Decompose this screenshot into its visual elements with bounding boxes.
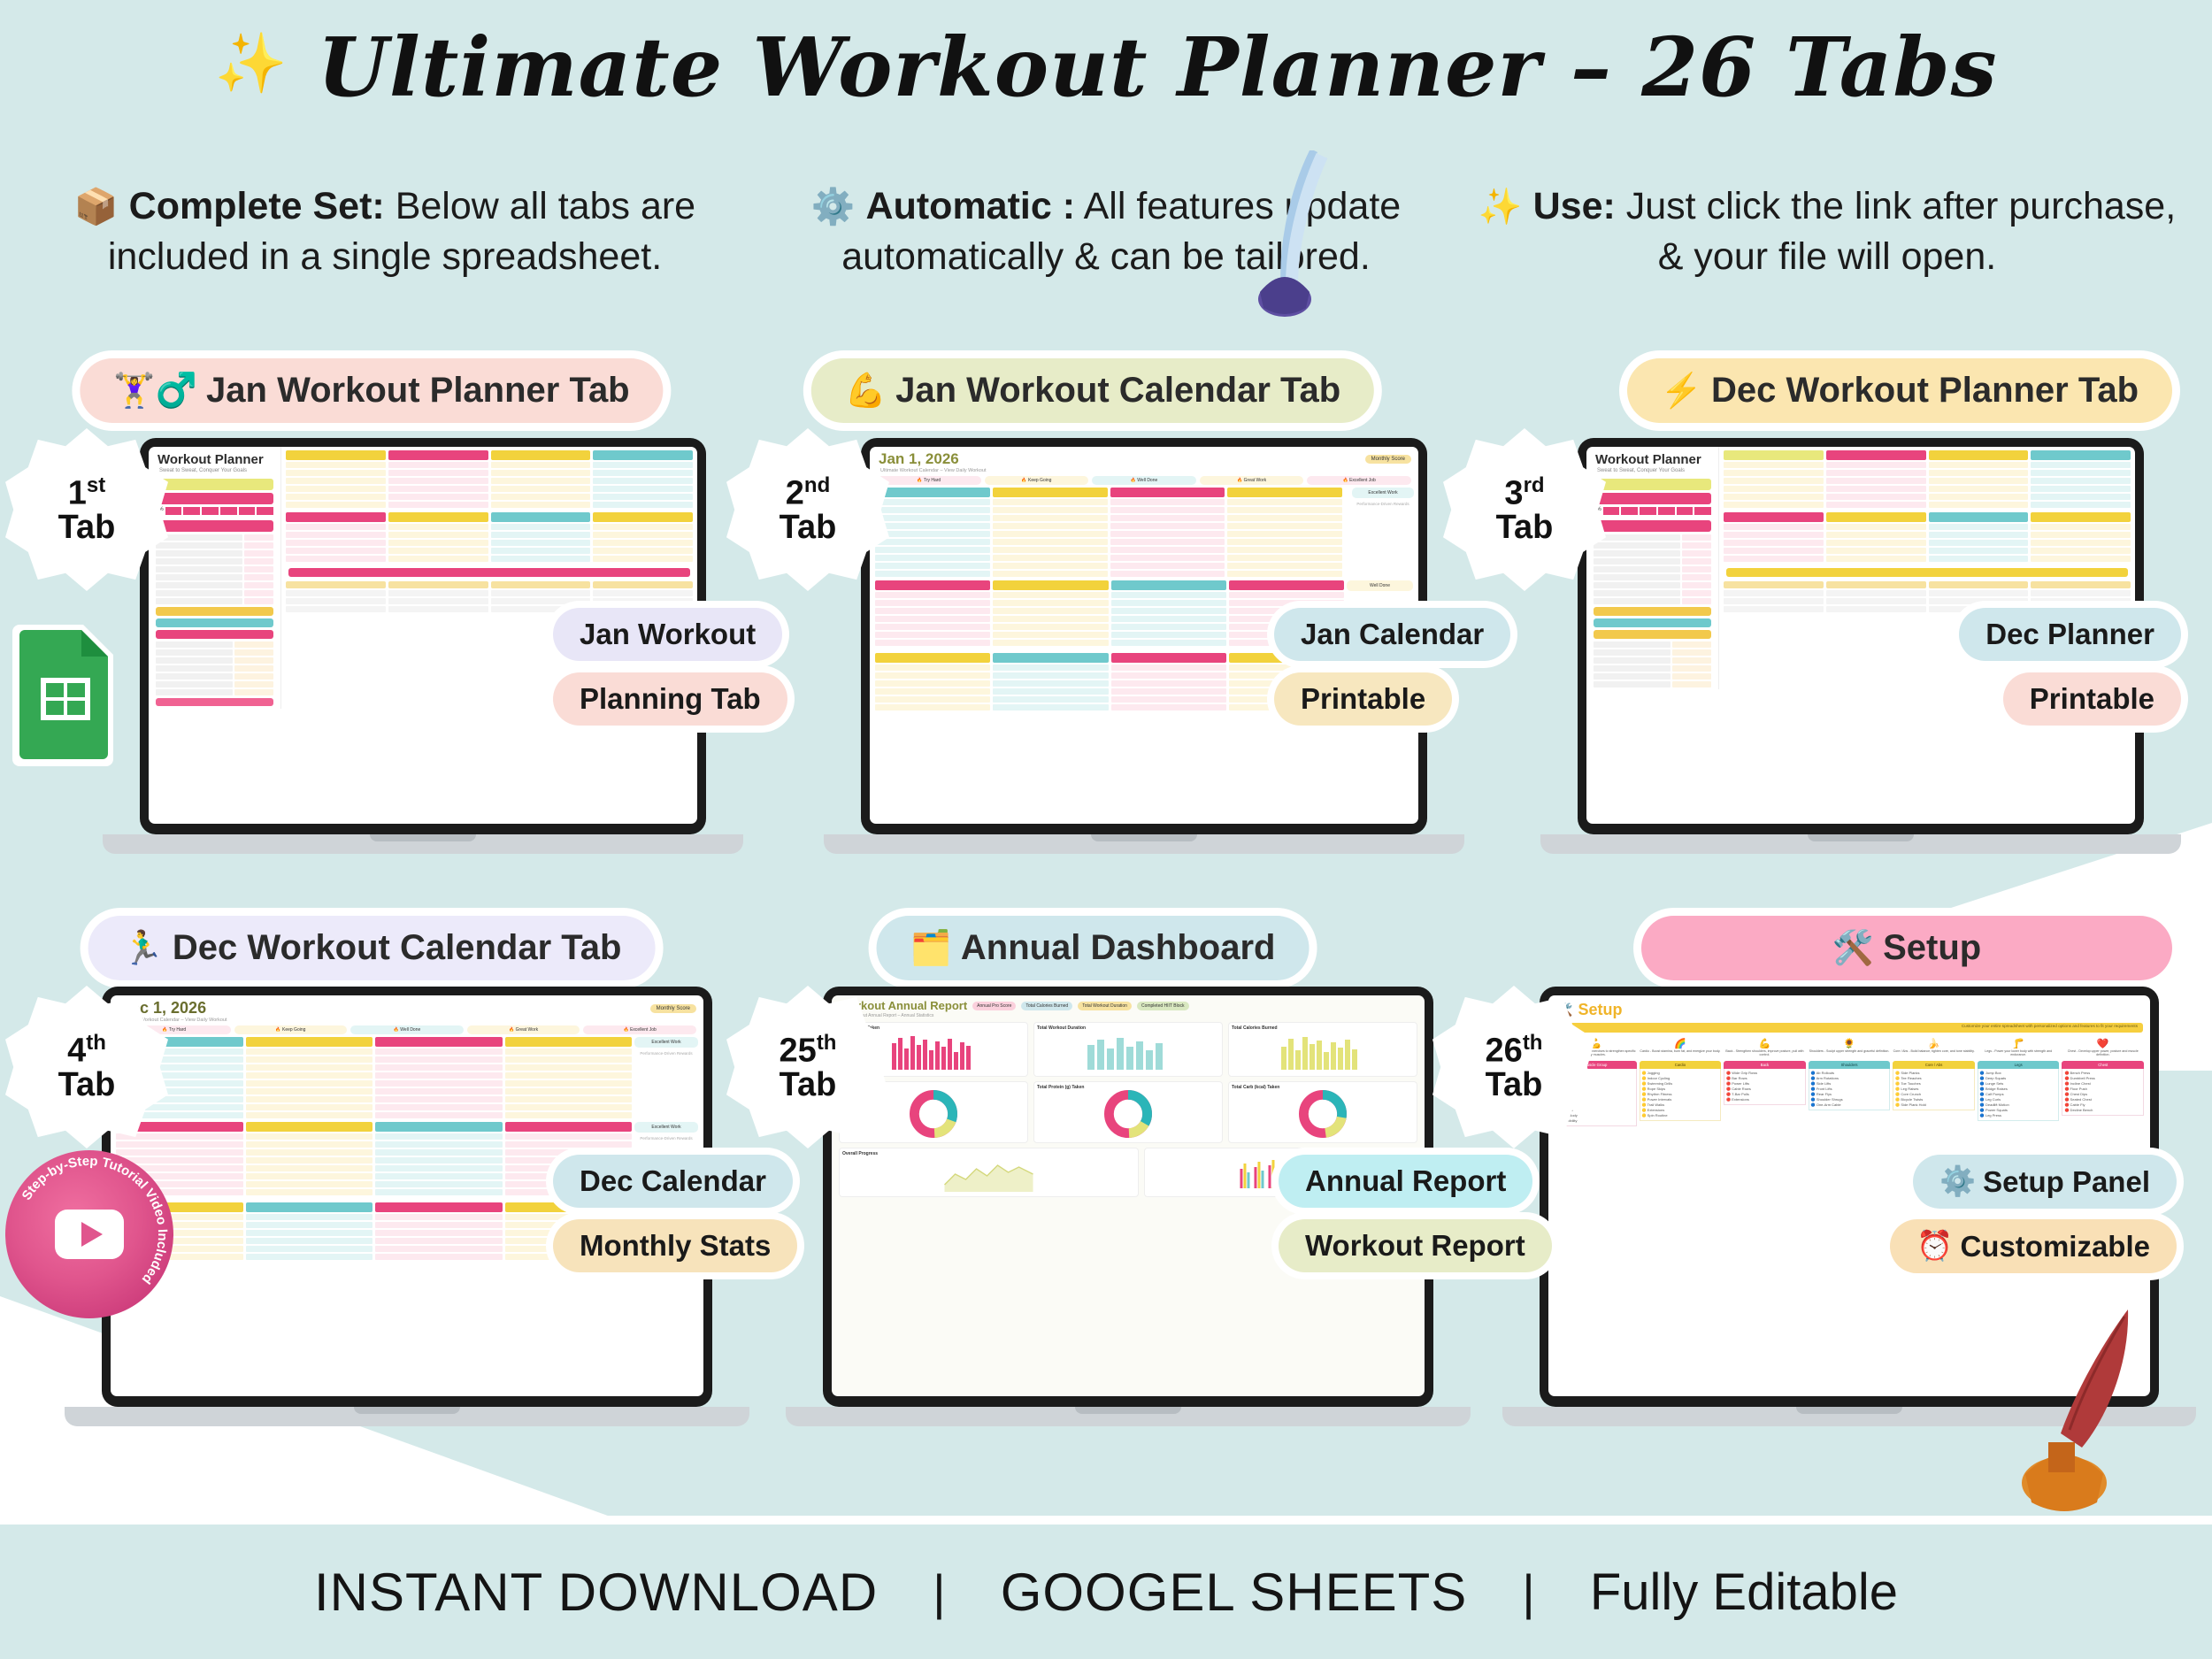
feature-use: ✨ Use: Just click the link after purchas… [1478,181,2177,282]
setup-col-head-2: Back [1724,1061,1806,1069]
badge-word: Tab [58,511,116,544]
footer-fully-editable: Fully Editable [1590,1563,1898,1622]
page-title: ✨ Ultimate Workout Planner – 26 Tabs [0,19,2212,115]
feature-strong: Use: [1533,185,1616,227]
sheet-subtitle: Sweat to Sweat, Conquer Your Goals [149,467,280,476]
leg-icon: 🦵 [1978,1038,2060,1049]
card-pill-jan-planner[interactable]: 🏋️‍♀️♂️ Jan Workout Planner Tab [80,358,663,423]
biceps-icon: 💪 [1724,1038,1806,1049]
tab-number-badge-4: 4th Tab [19,1000,154,1134]
card-pill-label: Setup [1883,928,1981,968]
sheet-goal-row [156,618,273,627]
callout-dec-calendar: Dec Calendar [553,1155,793,1208]
sheet-note-bar [156,698,273,706]
sheet-title: Workout Planner [149,447,280,467]
badge-ordinal: 25 [780,1033,817,1070]
badge-word: Tab [1486,1068,1543,1102]
heart-icon: ❤️ [2062,1038,2144,1049]
rainbow-icon: 🌈 [1640,1038,1722,1049]
sheet-title: Workout Planner [1586,447,1718,467]
feature-strong: Complete Set: [129,185,385,227]
callout-annual-report: Annual Report [1279,1155,1532,1208]
callout-workout-report: Workout Report [1279,1219,1552,1272]
page-title-text: Ultimate Workout Planner – 26 Tabs [318,19,1998,115]
tutorial-video-badge[interactable]: Step-by-Step Tutorial Video Included [5,1150,173,1318]
reward-badge-2: Excellent Work [634,1122,698,1133]
tab-number-badge-2: 2nd Tab [741,442,875,577]
sheet-subtitle: Sweat to Sweat, Conquer Your Goals [1586,467,1718,476]
sunflower-icon: 🌻 [1809,1038,1891,1049]
sheet-progress-bar [156,493,273,504]
callout-monthly-stats: Monthly Stats [553,1219,797,1272]
callout-printable-1: Printable [1274,672,1452,726]
google-sheets-icon [7,619,124,770]
sheet-stats-header [156,520,273,532]
runner-icon: 🏃‍♂️ [122,929,164,968]
card-annual-dashboard: 🗂️ Annual Dashboard 25th Tab Workout Ann… [757,916,1429,1429]
setup-col-sub-6: Chest - Develop upper power, posture and… [2062,1049,2144,1057]
badge-word: Tab [58,1068,116,1102]
feature-complete-set: 📦 Complete Set: Below all tabs are inclu… [35,181,734,282]
calendar-date: Jan 1, 2026 [879,450,959,468]
feature-text: Just click the link after purchase, & yo… [1616,185,2176,278]
card-pill-label: Jan Workout Calendar Tab [895,371,1340,411]
badge-suffix: th [1523,1031,1543,1055]
tab-number-badge-26: 26th Tab [1447,1000,1581,1134]
kpi-0: Annual Pro Score [972,1002,1016,1010]
package-icon: 📦 [74,188,119,227]
setup-col-head-6: Chest [2062,1061,2144,1069]
laptop-base-5 [786,1407,1471,1426]
setup-col-head-5: Legs [1978,1061,2060,1069]
callout-jan-calendar: Jan Calendar [1274,608,1510,661]
reward-badge-1: Excellent Work [1352,488,1414,498]
perf-label: Performance-Driven Rewards [634,1051,698,1056]
badge-ordinal: 1 [68,475,87,512]
badge-suffix: th [86,1031,106,1055]
laptop-frame-4: Dec 1, 2026 Monthly Score Ultimate Worko… [102,987,712,1429]
quill-pen-icon [1995,1310,2163,1513]
donut-chart-carb [1299,1090,1347,1138]
callout-jan-workout: Jan Workout [553,608,782,661]
callout-dec-planner: Dec Planner [1959,608,2181,661]
laptop-base-2 [824,834,1464,854]
donut-chart-fat [910,1090,957,1138]
card-pill-label: Jan Workout Planner Tab [206,371,630,411]
monthly-score-badge: Monthly Score [650,1004,696,1013]
sheet-weight-row [156,607,273,616]
badge-word: Tab [780,1068,837,1102]
badge-ordinal: 26 [1486,1033,1523,1070]
badge-ordinal: 4 [67,1033,86,1070]
calendar-subtitle: Ultimate Workout Calendar – View Daily W… [870,468,1418,476]
sheet-measure-row [156,630,273,639]
card-pill-setup[interactable]: 🛠️ Setup [1641,916,2172,980]
card-jan-workout-calendar: 💪 Jan Workout Calendar Tab 2nd Tab Jan 1… [757,358,1429,872]
bar-chart-calories [1232,1031,1414,1071]
card-dec-workout-planner: ⚡ Dec Workout Planner Tab 3rd Tab Workou… [1473,358,2172,872]
weightlifter-icon: 🏋️‍♀️♂️ [113,372,197,411]
setup-col-sub-1: Cardio - Boost stamina, burn fat, and en… [1640,1049,1722,1053]
callout-planning-tab: Planning Tab [553,672,787,726]
tab-number-badge-25: 25th Tab [741,1000,875,1134]
ink-pot-icon [1230,150,1345,319]
setup-col-head-4: Core / Abs [1893,1061,1975,1069]
lightning-icon: ⚡ [1661,372,1702,411]
footer-separator-2: | [1522,1563,1535,1621]
badge-ordinal: 3 [1504,475,1523,512]
callout-customizable: ⏰ Customizable [1890,1219,2177,1273]
setup-col-sub-2: Back - Strengthen shoulders, improve pos… [1724,1049,1806,1057]
gear-icon: ⚙️ [811,188,856,227]
callout-setup-panel: ⚙️ Setup Panel [1913,1155,2177,1209]
setup-banner: Customize your entire spreadsheet with p… [1962,1024,2138,1028]
badge-word: Tab [1496,511,1554,544]
flexed-biceps-icon: 💪 [845,372,887,411]
laptop-base-1 [103,834,743,854]
card-jan-workout-planner: 🏋️‍♀️♂️ Jan Workout Planner Tab 1st Tab … [35,358,708,872]
perf-label-2: Performance-Driven Rewards [634,1136,698,1141]
badge-suffix: nd [804,473,830,497]
badge-suffix: rd [1524,473,1545,497]
gear-icon: ⚙️ [1939,1164,1976,1199]
area-chart-progress [842,1156,1135,1192]
banana-icon: 🍌 [1893,1038,1975,1049]
badge-word: Tab [780,511,837,544]
setup-title: Setup [1578,1001,1622,1019]
poster-root: ✨ Ultimate Workout Planner – 26 Tabs 📦 C… [0,0,2212,1659]
card-pill-annual-dashboard[interactable]: 🗂️ Annual Dashboard [877,916,1310,980]
feature-strong: Automatic : [866,185,1076,227]
sparkle-icon: ✨ [1479,188,1523,227]
card-pill-label: Annual Dashboard [961,928,1276,968]
card-pill-dec-planner[interactable]: ⚡ Dec Workout Planner Tab [1627,358,2172,423]
card-pill-label: Dec Workout Calendar Tab [173,928,622,968]
perf-label: Performance-Driven Rewards [1352,502,1414,506]
calendar-subtitle: Ultimate Workout Calendar – View Daily W… [111,1018,703,1025]
badge-ordinal: 2 [786,475,804,512]
card-pill-label: Dec Workout Planner Tab [1711,371,2139,411]
tab-number-badge-3: 3rd Tab [1457,442,1592,577]
laptop-base-3 [1540,834,2181,854]
footer-divider [0,1516,2212,1525]
badge-suffix: st [87,473,105,497]
sheet-band [156,479,273,490]
feature-automatic: ⚙️ Automatic : All features update autom… [757,181,1455,282]
callout-printable-2: Printable [2003,672,2181,726]
card-index-divider-icon: 🗂️ [910,929,952,968]
setup-col-head-1: Cardio [1640,1061,1722,1069]
monthly-score-badge: Monthly Score [1365,455,1411,464]
footer-google-sheets: GOOGEL SHEETS [1001,1562,1468,1623]
tab-number-badge-1: 1st Tab [19,442,154,577]
hammer-and-wrench-icon: 🛠️ [1832,929,1874,968]
kpi-3: Completed HIIT Block [1137,1002,1189,1010]
alarm-clock-icon: ⏰ [1916,1229,1953,1263]
card-pill-dec-calendar[interactable]: 🏃‍♂️ Dec Workout Calendar Tab [88,916,656,980]
feature-row: 📦 Complete Set: Below all tabs are inclu… [35,181,2177,282]
reward-badge-1: Excellent Work [634,1037,698,1048]
reward-badge-2: Well Done [1347,580,1413,591]
footer-separator-1: | [933,1563,946,1621]
laptop-frame-5: Workout Annual Report Annual Pro Score T… [823,987,1433,1429]
dash-subtitle: Your Workout Annual Report – Annual Stat… [832,1012,1425,1022]
donut-chart-protein [1104,1090,1152,1138]
card-pill-jan-calendar[interactable]: 💪 Jan Workout Calendar Tab [811,358,1374,423]
setup-col-sub-4: Core / Abs - Build balance, tighten core… [1893,1049,1975,1053]
setup-col-head-3: Shoulders [1809,1061,1891,1069]
footer-instant-download: INSTANT DOWNLOAD [314,1562,878,1623]
footer-bar: INSTANT DOWNLOAD | GOOGEL SHEETS | Fully… [0,1525,2212,1659]
bar-chart-duration [1037,1031,1219,1071]
kpi-1: Total Calories Burned [1021,1002,1072,1010]
kpi-2: Total Workout Duration [1078,1002,1132,1010]
play-button-icon[interactable] [55,1210,124,1259]
setup-col-sub-3: Shoulders - Sculpt upper strength and gr… [1809,1049,1891,1053]
sparkle-icon: ✨ [214,28,288,97]
laptop-base-4 [65,1407,749,1426]
setup-col-sub-5: Legs - Power your lower body with streng… [1978,1049,2060,1057]
badge-suffix: th [817,1031,837,1055]
